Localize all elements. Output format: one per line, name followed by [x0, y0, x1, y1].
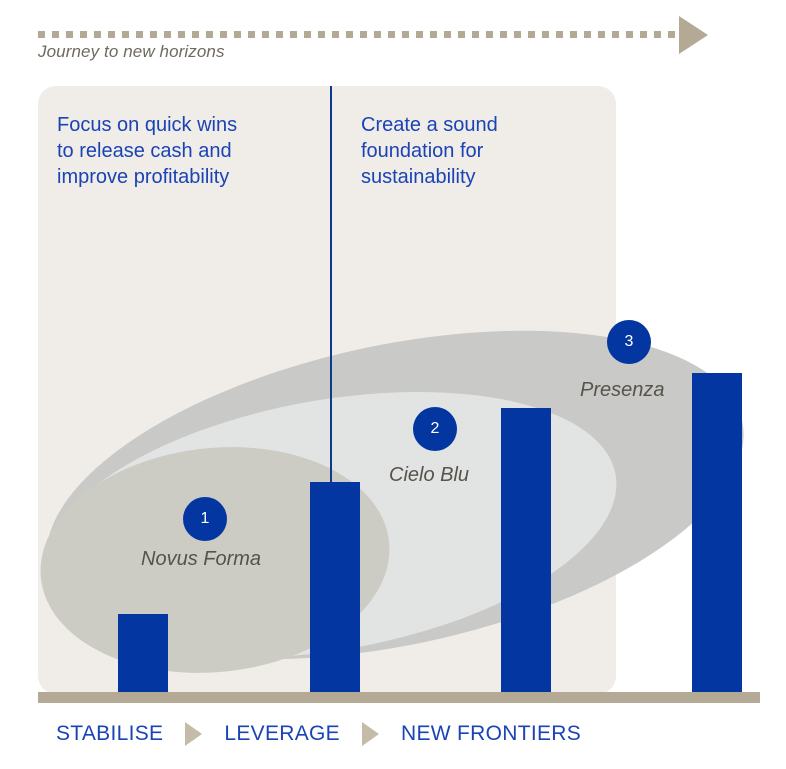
- bar-4: [692, 373, 742, 692]
- footer-phase-leverage[interactable]: LEVERAGE: [224, 722, 340, 746]
- marker-3-label: Presenza: [580, 379, 665, 402]
- bar-2: [310, 482, 360, 692]
- bar-3: [501, 408, 551, 692]
- phase-statement-left: Focus on quick wins to release cash and …: [57, 112, 317, 190]
- triangle-right-icon-1: [185, 722, 202, 746]
- marker-3-badge: 3: [607, 320, 651, 364]
- chart-baseline: [38, 692, 760, 703]
- marker-1-label: Novus Forma: [141, 548, 261, 571]
- marker-1-badge: 1: [183, 497, 227, 541]
- phase-divider: [330, 86, 332, 486]
- diagram-canvas: Journey to new horizons Focus on quick w…: [0, 0, 786, 769]
- marker-2-label: Cielo Blu: [389, 464, 469, 487]
- marker-2-badge: 2: [413, 407, 457, 451]
- triangle-right-icon-2: [362, 722, 379, 746]
- footer-phase-new-frontiers[interactable]: NEW FRONTIERS: [401, 722, 581, 746]
- footer-phase-stabilise[interactable]: STABILISE: [56, 722, 163, 746]
- bar-1: [118, 614, 168, 692]
- phase-footer: STABILISE LEVERAGE NEW FRONTIERS: [38, 712, 760, 756]
- phase-statement-right: Create a sound foundation for sustainabi…: [361, 112, 611, 190]
